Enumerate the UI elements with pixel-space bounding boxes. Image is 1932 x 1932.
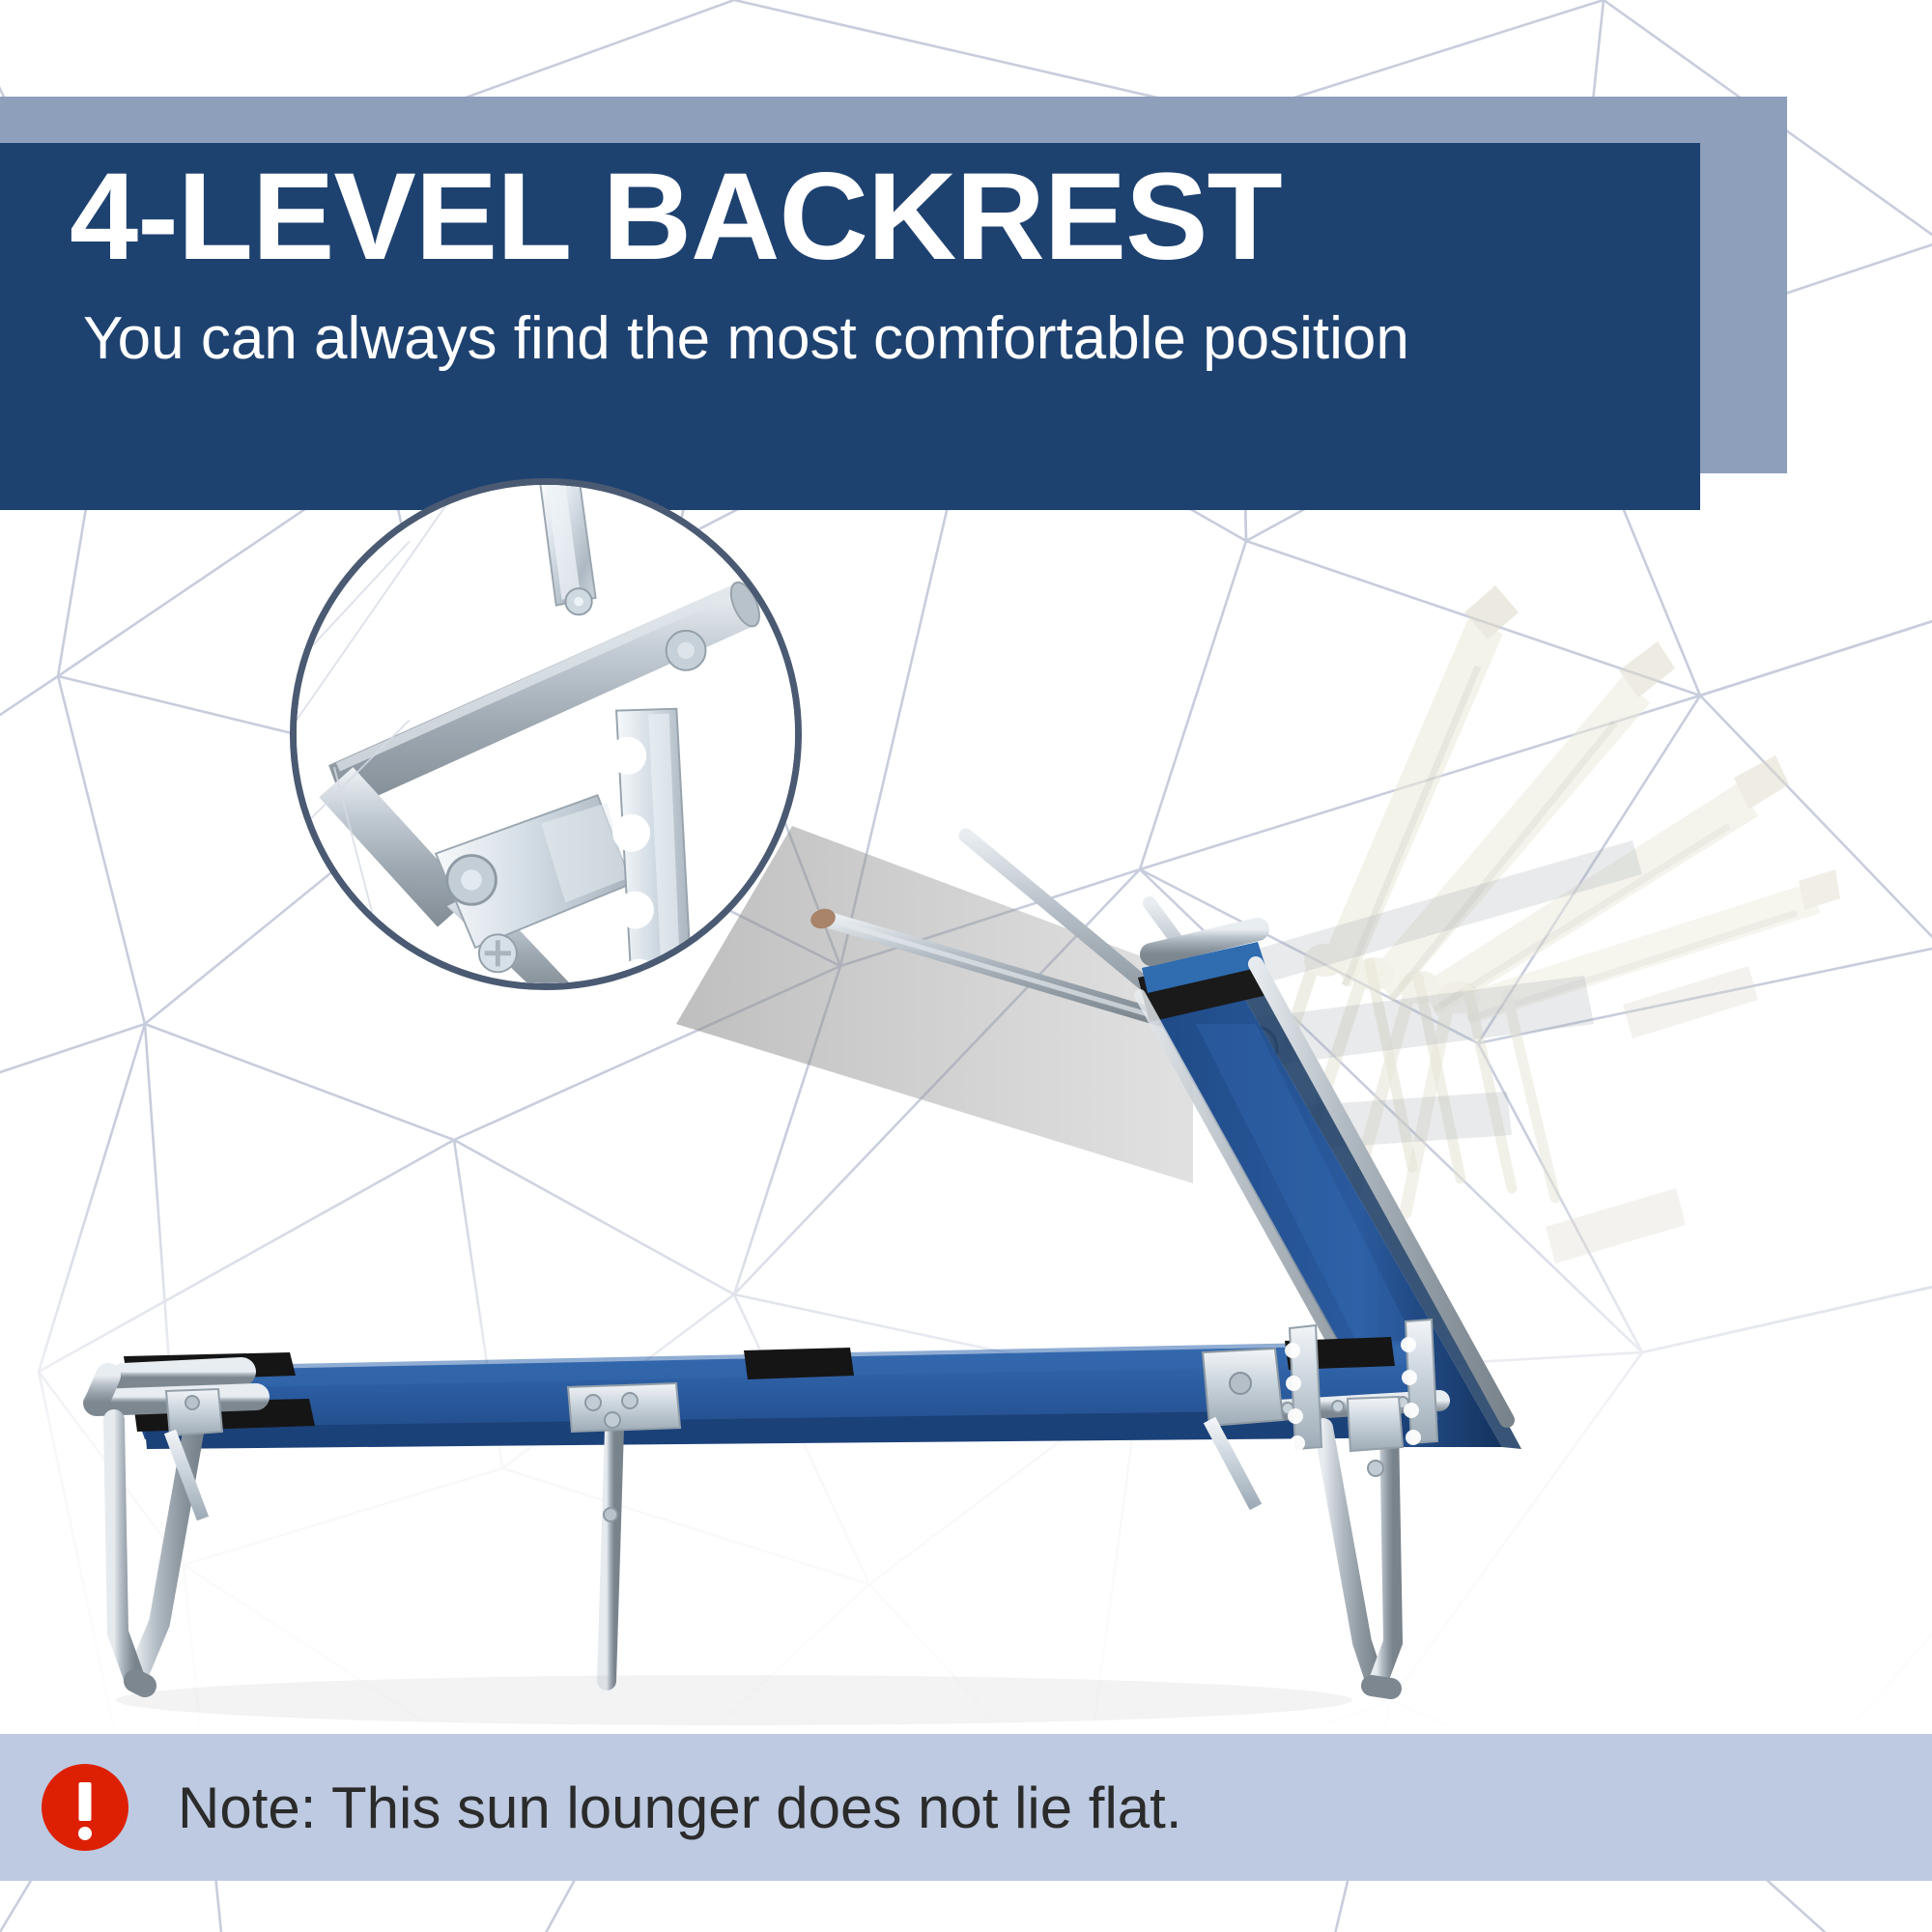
- hinge-detail-magnifier: [290, 478, 802, 990]
- note-text: Note: This sun lounger does not lie flat…: [178, 1775, 1182, 1841]
- exclamation-circle-icon: [42, 1764, 128, 1851]
- middle-leg: [568, 1383, 680, 1681]
- hinge-knuckle: [565, 588, 591, 614]
- exclamation-stroke: [79, 1782, 92, 1821]
- front-leg: [114, 1389, 222, 1686]
- exclamation-dot: [78, 1827, 92, 1840]
- phillips-screw: [479, 934, 517, 972]
- note-bar: Note: This sun lounger does not lie flat…: [0, 1734, 1932, 1881]
- poster-canvas: 4-LEVEL BACKREST You can always find the…: [0, 0, 1932, 1932]
- product-illustration: [0, 0, 1932, 1932]
